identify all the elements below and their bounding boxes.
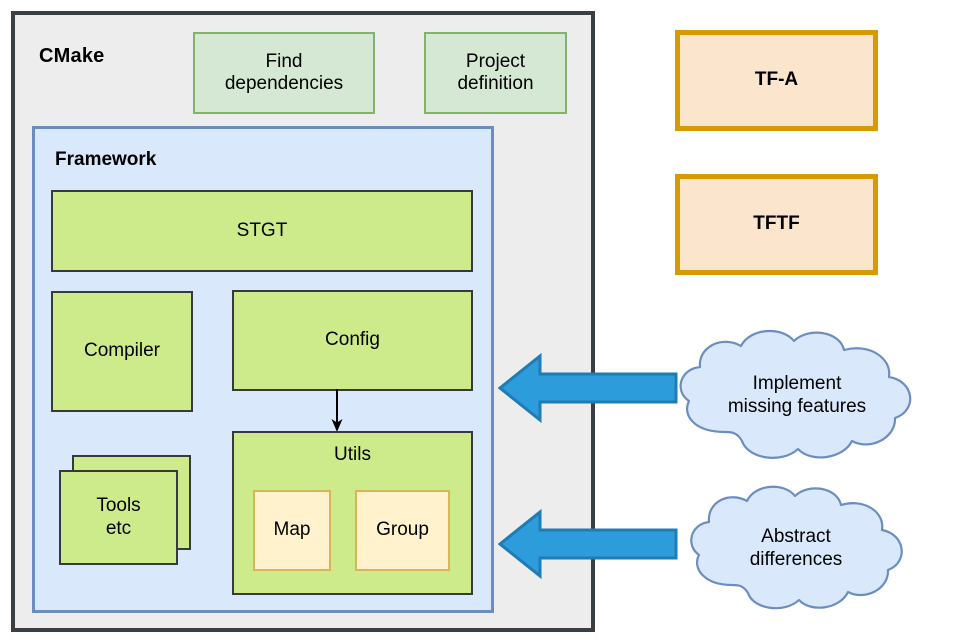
implement-features-arrow-icon: [498, 352, 678, 424]
utils-label: Utils: [234, 444, 471, 466]
implement-features-cloud-label: Implement missing features: [668, 373, 926, 419]
abstract-differences-cloud-label: Abstract differences: [680, 526, 912, 572]
compiler-box: Compiler: [51, 291, 193, 412]
group-box: Group: [355, 490, 450, 571]
map-box: Map: [253, 490, 331, 571]
diagram-canvas: CMake Find dependencies Project definiti…: [0, 0, 964, 644]
tf-a-box: TF-A: [675, 30, 878, 131]
tftf-box: TFTF: [675, 174, 878, 275]
framework-title: Framework: [55, 149, 156, 171]
find-dependencies-box: Find dependencies: [193, 32, 375, 114]
stgt-box: STGT: [51, 190, 473, 272]
cmake-title: CMake: [39, 45, 104, 69]
tools-etc-box: Tools etc: [59, 470, 178, 565]
abstract-differences-cloud: Abstract differences: [680, 480, 912, 625]
implement-features-cloud: Implement missing features: [668, 325, 926, 470]
config-to-utils-arrow-icon: [330, 389, 344, 433]
config-box: Config: [232, 290, 473, 391]
abstract-differences-arrow-icon: [498, 508, 678, 580]
project-definition-box: Project definition: [424, 32, 567, 114]
